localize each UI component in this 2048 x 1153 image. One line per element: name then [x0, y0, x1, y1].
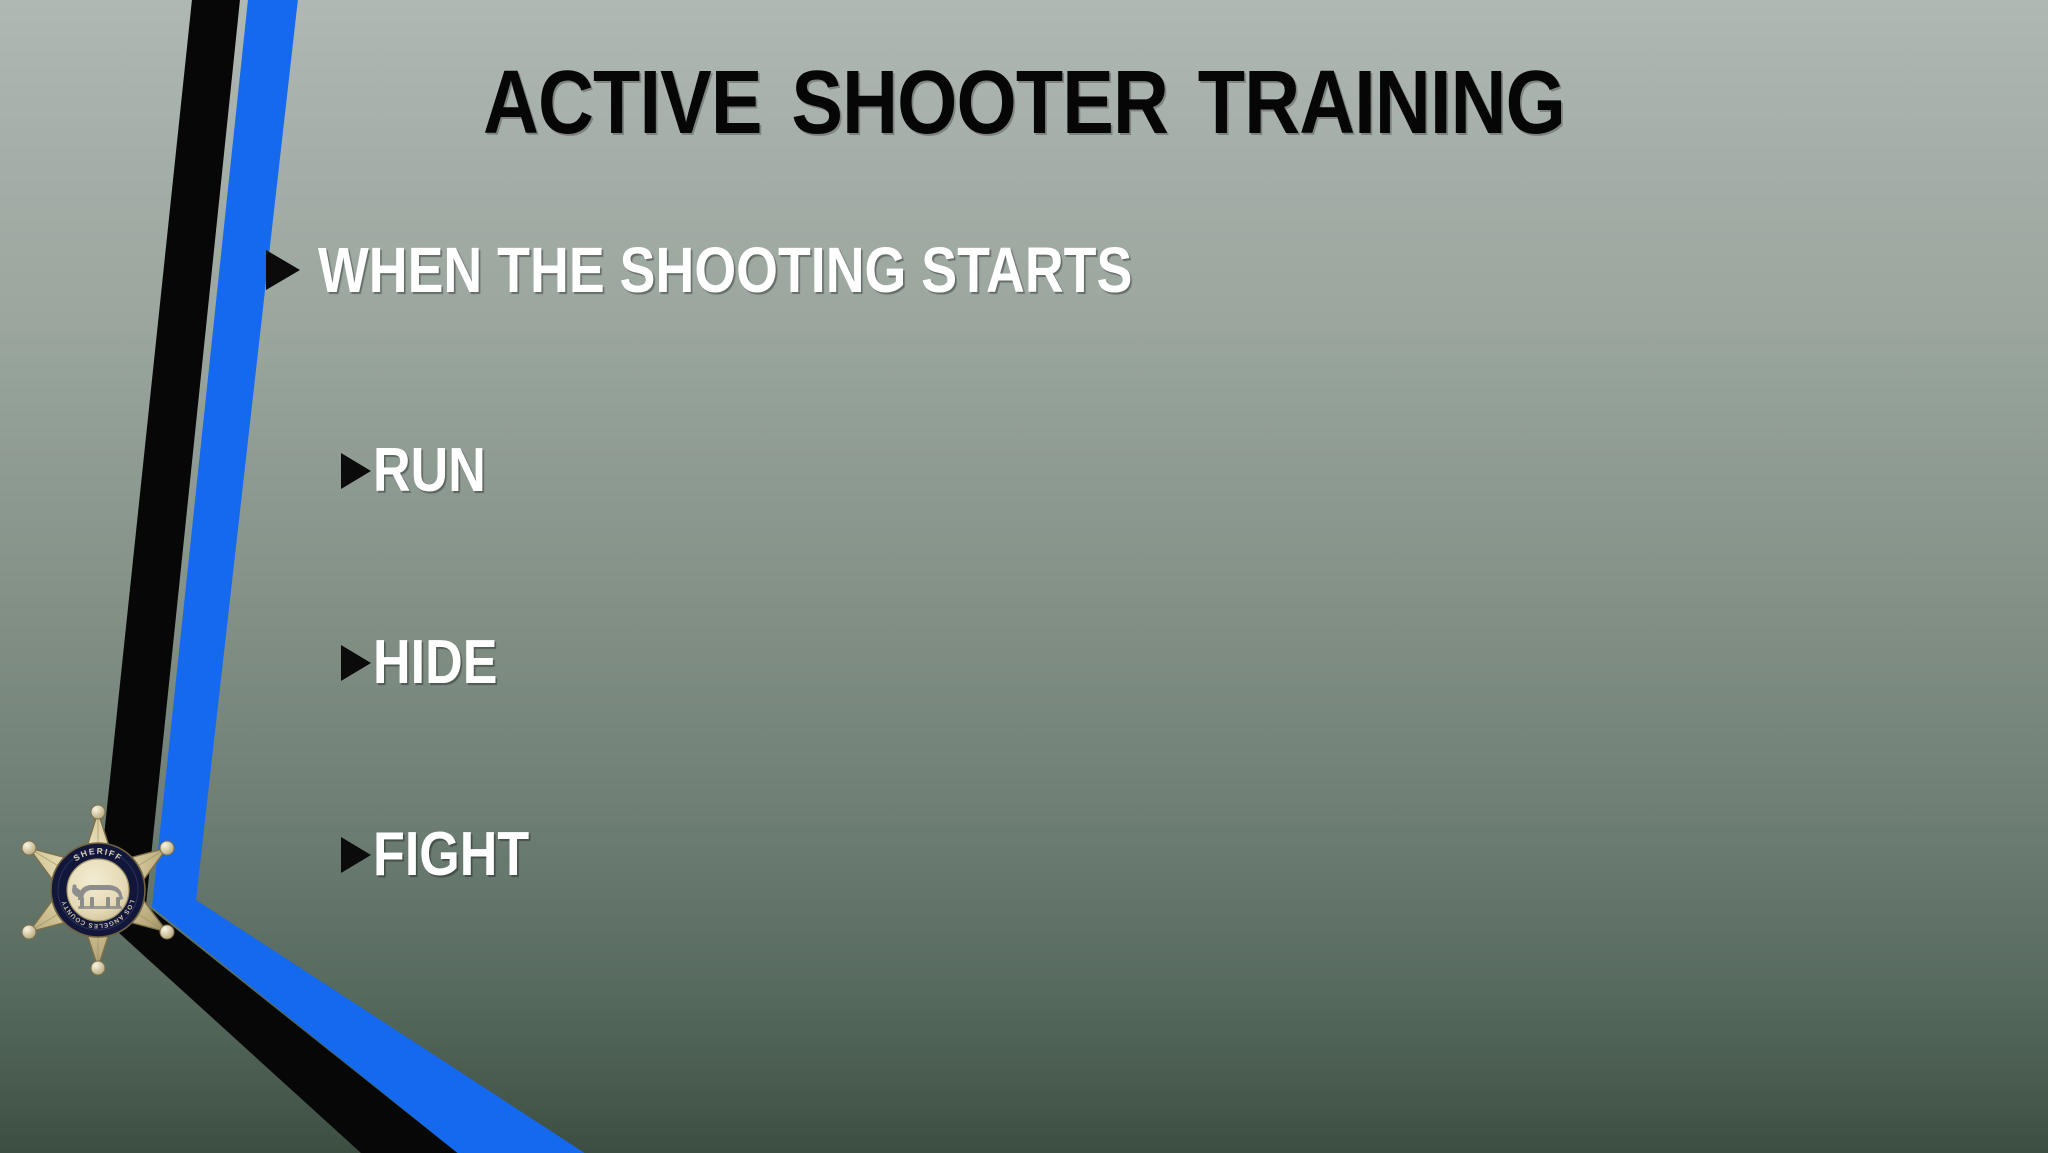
list-item: HIDE — [341, 632, 521, 694]
triangle-bullet-icon — [341, 645, 371, 681]
triangle-bullet-icon — [341, 453, 371, 489]
list-item-label: HIDE — [373, 632, 497, 694]
triangle-bullet-icon — [266, 250, 300, 290]
list-item: RUN — [341, 440, 507, 502]
bullet-list: WHEN THE SHOOTING STARTS RUN HIDE FIGHT — [0, 0, 2048, 1153]
list-item-label: FIGHT — [373, 824, 529, 886]
list-item: WHEN THE SHOOTING STARTS — [266, 238, 1287, 302]
list-item-label: WHEN THE SHOOTING STARTS — [318, 238, 1132, 302]
list-item-label: RUN — [373, 440, 486, 502]
sheriff-star-badge-logo: SHERIFF LOS ANGELES COUNTY — [8, 800, 188, 980]
triangle-bullet-icon — [341, 837, 371, 873]
slide-canvas: Active Shooter Training WHEN THE SHOOTIN… — [0, 0, 2048, 1153]
list-item: FIGHT — [341, 824, 559, 886]
